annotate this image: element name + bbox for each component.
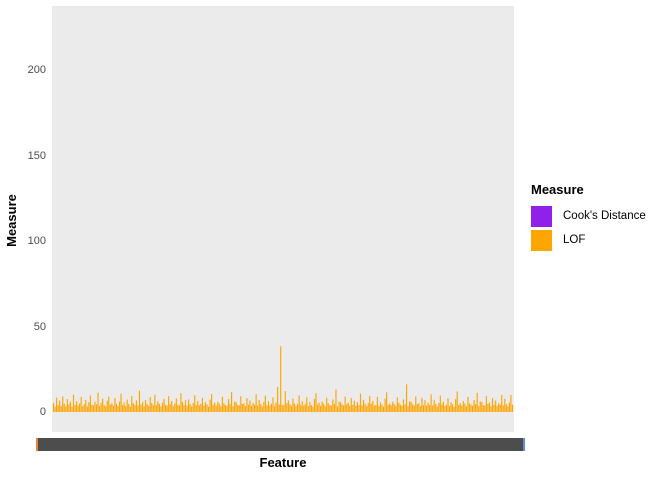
bar-lof <box>449 406 450 412</box>
bar-lof <box>71 407 72 412</box>
bar-lof <box>314 399 315 412</box>
bar-lof <box>426 406 427 412</box>
bar-lof <box>105 407 106 412</box>
bar-lof <box>242 404 243 412</box>
bar-lof <box>409 401 410 412</box>
bar-lof <box>134 405 135 412</box>
bar-lof <box>455 399 456 412</box>
bar-lof <box>348 403 349 412</box>
bar-lof <box>483 405 484 412</box>
bar-lof <box>81 397 82 412</box>
bar-lof <box>380 402 381 412</box>
bar-lof <box>323 404 324 412</box>
bar-lof <box>467 397 468 412</box>
bar-lof <box>346 404 347 412</box>
bar-lof <box>374 406 375 412</box>
bar-lof <box>226 406 227 413</box>
bar-lof <box>292 398 293 412</box>
bar-lof <box>276 403 277 412</box>
bar-lof <box>417 404 418 412</box>
bar-lof <box>59 401 60 412</box>
legend-item[interactable]: LOF <box>531 228 671 252</box>
bar-lof <box>358 405 359 412</box>
bar-lof <box>463 401 464 412</box>
bar-lof <box>64 404 65 412</box>
bar-lof <box>193 403 194 412</box>
bar-lof <box>368 403 369 412</box>
bar-lof <box>142 402 143 412</box>
bar-lof <box>131 396 132 412</box>
bar-lof <box>229 404 230 412</box>
bar-lof <box>440 396 441 412</box>
bar-lof <box>305 404 306 412</box>
bar-lof <box>335 390 336 412</box>
bar-lof <box>503 406 504 413</box>
bar-lof <box>139 391 140 412</box>
bar-lof <box>246 398 247 412</box>
bar-lof <box>162 403 163 412</box>
bar-lof <box>306 397 307 412</box>
bar-lof <box>200 404 201 412</box>
bar-lof <box>504 399 505 412</box>
bar-lof <box>269 406 270 412</box>
bar-lof <box>338 402 339 412</box>
bar-lof <box>403 399 404 412</box>
bar-lof <box>497 406 498 412</box>
y-axis-tick-label: 150 <box>28 150 46 162</box>
bar-lof <box>318 403 319 412</box>
bar-lof <box>73 395 74 412</box>
bar-lof <box>512 405 513 412</box>
bar-lof <box>343 405 344 412</box>
bar-lof <box>125 406 126 412</box>
bar-lof <box>378 406 379 412</box>
bar-lof <box>443 402 444 412</box>
bar-lof <box>199 405 200 412</box>
bar-lof <box>381 405 382 412</box>
bar-lof <box>322 401 323 412</box>
bar-lof <box>325 406 326 412</box>
bar-lof <box>489 403 490 412</box>
bar-lof <box>334 404 335 412</box>
bar-lof <box>93 405 94 412</box>
bar-lof <box>361 406 362 413</box>
bar-lof <box>111 403 112 412</box>
bar-lof <box>262 407 263 412</box>
bar-lof <box>239 405 240 412</box>
bar-lof <box>420 406 421 412</box>
bar-lof <box>490 406 491 412</box>
bar-lof <box>329 405 330 412</box>
x-axis-title: Feature <box>52 455 514 470</box>
bar-lof <box>349 406 350 412</box>
bar-lof <box>101 403 102 412</box>
bar-lof <box>94 402 95 412</box>
bar-lof <box>299 395 300 412</box>
bar-lof <box>74 405 75 412</box>
bar-lof <box>366 406 367 412</box>
bar-lof <box>65 407 66 412</box>
bar-lof <box>190 404 191 412</box>
bar-lof <box>352 405 353 412</box>
bar-lof <box>421 398 422 412</box>
bar-lof <box>228 399 229 412</box>
bar-lof <box>277 387 278 412</box>
bar-lof <box>315 393 316 412</box>
bar-lof <box>170 404 171 412</box>
bar-lof <box>127 400 128 412</box>
bar-lof <box>206 404 207 412</box>
bar-lof <box>351 398 352 412</box>
bar-lof <box>481 402 482 412</box>
bar-lof <box>183 405 184 412</box>
bar-lof <box>340 402 341 412</box>
legend-items: Cook's DistanceLOF <box>531 204 671 252</box>
bar-lof <box>509 402 510 412</box>
bar-lof <box>506 404 507 412</box>
bar-lof <box>280 346 281 412</box>
bar-lof <box>266 405 267 412</box>
bar-lof <box>282 405 283 412</box>
bar-lof <box>116 404 117 412</box>
bar-lof <box>398 403 399 412</box>
legend-item-label: Cook's Distance <box>563 210 646 222</box>
bar-lof <box>302 401 303 412</box>
bar-lof <box>469 403 470 412</box>
bar-lof <box>222 397 223 412</box>
bar-lof <box>342 404 343 412</box>
bar-lof <box>369 396 370 412</box>
bar-lof <box>429 405 430 412</box>
bar-lof <box>427 403 428 412</box>
bar-lof <box>208 407 209 412</box>
bar-lof <box>291 406 292 412</box>
bar-lof <box>128 404 129 412</box>
bar-lof <box>180 393 181 412</box>
bar-lof <box>466 406 467 412</box>
bar-lof <box>437 407 438 412</box>
bar-lof <box>383 407 384 412</box>
bar-lof <box>85 400 86 412</box>
bar-lof <box>495 401 496 412</box>
bar-lof <box>268 401 269 412</box>
bar-lof <box>110 405 111 412</box>
bar-lof <box>418 403 419 412</box>
bar-lof <box>474 400 475 412</box>
bar-lof <box>406 384 407 412</box>
bar-lof <box>56 398 57 412</box>
bar-lof <box>394 404 395 412</box>
bar-lof <box>424 400 425 412</box>
bar-lof <box>159 404 160 412</box>
bar-lof <box>87 406 88 412</box>
bar-lof <box>133 403 134 412</box>
bar-lof <box>452 404 453 412</box>
bar-lof <box>375 405 376 412</box>
bar-lof <box>53 403 54 412</box>
bar-lof <box>472 406 473 412</box>
bar-lof <box>434 400 435 412</box>
bar-lof <box>404 404 405 412</box>
bar-lof <box>372 401 373 412</box>
bar-lof <box>205 402 206 412</box>
bar-lof <box>167 406 168 412</box>
bar-lof <box>102 399 103 412</box>
y-axis-title-label: Measure <box>4 194 19 247</box>
bar-lof <box>303 406 304 413</box>
legend: Measure Cook's DistanceLOF <box>531 183 671 252</box>
bar-lof <box>67 399 68 412</box>
bar-lof <box>140 404 141 412</box>
bar-lof <box>487 404 488 412</box>
bar-lof <box>91 405 92 412</box>
bar-lof <box>148 406 149 412</box>
bar-lof <box>236 402 237 412</box>
bar-lof <box>288 400 289 412</box>
series-bars-svg <box>52 6 514 432</box>
bar-lof <box>414 406 415 413</box>
bar-lof <box>245 406 246 412</box>
bar-lof <box>388 405 389 412</box>
bar-lof <box>295 406 296 412</box>
bar-lof <box>58 405 59 412</box>
bar-lof <box>311 405 312 412</box>
bar-lof <box>249 401 250 412</box>
bar-lof <box>337 407 338 412</box>
x-tick-strip-right-edge <box>523 438 525 451</box>
bar-lof <box>210 400 211 412</box>
bar-lof <box>386 392 387 412</box>
bar-lof <box>174 403 175 412</box>
bar-lof <box>317 405 318 412</box>
bar-lof <box>163 399 164 412</box>
y-axis-tick-label: 50 <box>34 321 46 333</box>
bar-lof <box>431 394 432 412</box>
bar-lof <box>197 401 198 412</box>
bar-lof <box>202 398 203 412</box>
bar-lof <box>156 405 157 412</box>
bar-lof <box>84 404 85 412</box>
bar-lof <box>68 404 69 412</box>
bar-lof <box>223 403 224 412</box>
bar-lof <box>309 402 310 412</box>
bar-lof <box>283 405 284 412</box>
bar-lof <box>248 405 249 412</box>
bar-lof <box>363 400 364 412</box>
bar-lof <box>454 407 455 412</box>
bar-lof <box>312 407 313 412</box>
plot-panel <box>52 6 514 432</box>
x-axis-tick-labels-strip <box>36 438 525 451</box>
bar-lof <box>173 406 174 412</box>
bar-lof <box>257 406 258 413</box>
bar-lof <box>480 401 481 412</box>
bar-lof <box>104 405 105 412</box>
bar-lof <box>99 406 100 412</box>
bar-lof <box>211 394 212 412</box>
series-lof <box>52 6 514 432</box>
bar-lof <box>54 407 55 412</box>
bar-lof <box>234 402 235 412</box>
bar-lof <box>400 405 401 412</box>
legend-title: Measure <box>531 183 671 197</box>
bar-lof <box>216 406 217 412</box>
bar-lof <box>300 405 301 412</box>
bar-lof <box>432 405 433 412</box>
bar-lof <box>254 405 255 412</box>
bar-lof <box>157 401 158 412</box>
bar-lof <box>176 398 177 412</box>
bar-lof <box>446 405 447 412</box>
bar-lof <box>286 403 287 412</box>
y-axis-tick-label: 200 <box>28 64 46 76</box>
bar-lof <box>147 404 148 412</box>
bar-lof <box>294 404 295 412</box>
bar-lof <box>271 404 272 412</box>
bar-lof <box>130 407 131 412</box>
bar-lof <box>243 403 244 412</box>
bar-lof <box>220 406 221 412</box>
bar-lof <box>168 396 169 412</box>
legend-item-label: LOF <box>563 234 585 246</box>
bar-lof <box>441 404 442 412</box>
bar-lof <box>345 397 346 412</box>
bar-lof <box>196 405 197 412</box>
bar-lof <box>444 406 445 412</box>
bar-lof <box>120 394 121 412</box>
bar-lof <box>447 398 448 412</box>
bar-lof <box>279 404 280 412</box>
bar-lof <box>371 404 372 412</box>
bar-lof <box>450 402 451 412</box>
bar-lof <box>423 405 424 412</box>
bar-lof <box>214 403 215 412</box>
bar-lof <box>389 403 390 412</box>
bar-lof <box>384 399 385 412</box>
bar-lof <box>500 404 501 412</box>
bar-lof <box>213 405 214 412</box>
bar-lof <box>194 395 195 412</box>
bar-lof <box>153 405 154 412</box>
bar-lof <box>397 397 398 412</box>
bar-lof <box>259 400 260 412</box>
bar-lof <box>357 402 358 412</box>
bar-lof <box>97 393 98 412</box>
bar-lof <box>160 407 161 412</box>
bar-lof <box>493 405 494 412</box>
bar-lof <box>136 400 137 412</box>
bar-lof <box>182 402 183 412</box>
bar-lof <box>88 402 89 412</box>
bar-lof <box>188 399 189 412</box>
x-tick-strip-left-edge <box>36 438 38 451</box>
bar-lof <box>154 395 155 412</box>
bar-lof <box>108 397 109 412</box>
bar-lof <box>354 401 355 412</box>
bar-lof <box>457 391 458 412</box>
bar-lof <box>107 401 108 412</box>
bar-lof <box>308 406 309 412</box>
bar-lof <box>470 405 471 412</box>
bar-lof <box>256 394 257 412</box>
bar-lof <box>191 406 192 412</box>
bar-lof <box>61 406 62 412</box>
bar-lof <box>355 406 356 412</box>
bar-lof <box>272 397 273 412</box>
bar-lof <box>510 395 511 412</box>
bar-lof <box>377 397 378 412</box>
bar-lof <box>114 398 115 412</box>
bar-lof <box>391 405 392 412</box>
bar-lof <box>360 394 361 412</box>
bar-lof <box>477 393 478 412</box>
bar-lof <box>79 403 80 412</box>
bar-lof <box>78 406 79 413</box>
bar-lof <box>263 402 264 412</box>
legend-item[interactable]: Cook's Distance <box>531 204 671 228</box>
bar-lof <box>82 406 83 412</box>
bar-lof <box>460 403 461 412</box>
bar-lof <box>252 403 253 412</box>
bar-lof <box>478 406 479 412</box>
bar-lof <box>237 405 238 412</box>
bar-lof <box>285 391 286 412</box>
bar-lof <box>119 402 120 412</box>
bar-lof <box>332 400 333 412</box>
bar-lof <box>62 396 63 412</box>
bar-lof <box>408 406 409 412</box>
bar-lof <box>171 401 172 412</box>
bar-lof <box>76 401 77 412</box>
bar-lof <box>486 396 487 412</box>
bar-lof <box>438 403 439 412</box>
bar-lof <box>326 398 327 412</box>
chart-container: Measure 050100150200 Feature Measure Coo… <box>0 0 672 480</box>
bar-lof <box>401 406 402 412</box>
bar-lof <box>464 404 465 412</box>
bar-lof <box>458 405 459 412</box>
bar-lof <box>392 402 393 412</box>
bar-lof <box>122 405 123 412</box>
bar-lof <box>151 403 152 412</box>
bar-lof <box>240 396 241 412</box>
bar-lof <box>492 398 493 412</box>
bar-lof <box>265 396 266 412</box>
bar-lof <box>328 403 329 412</box>
y-axis-tick-label: 0 <box>40 406 46 418</box>
bar-lof <box>415 396 416 412</box>
bar-lof <box>179 406 180 413</box>
bar-lof <box>137 406 138 413</box>
bar-lof <box>117 406 118 412</box>
bar-lof <box>150 397 151 412</box>
bar-lof <box>251 406 252 412</box>
bar-lof <box>498 403 499 412</box>
y-axis-tick-label: 100 <box>28 235 46 247</box>
bar-lof <box>203 406 204 412</box>
y-axis-tick-labels: 050100150200 <box>18 0 46 480</box>
bar-lof <box>96 404 97 412</box>
bar-lof <box>231 392 232 412</box>
bar-lof <box>484 405 485 412</box>
bar-lof <box>233 406 234 412</box>
bar-lof <box>435 404 436 412</box>
bar-lof <box>501 395 502 412</box>
bar-lof <box>185 400 186 412</box>
bar-lof <box>320 406 321 412</box>
bar-lof <box>177 405 178 412</box>
bar-lof <box>289 404 290 412</box>
